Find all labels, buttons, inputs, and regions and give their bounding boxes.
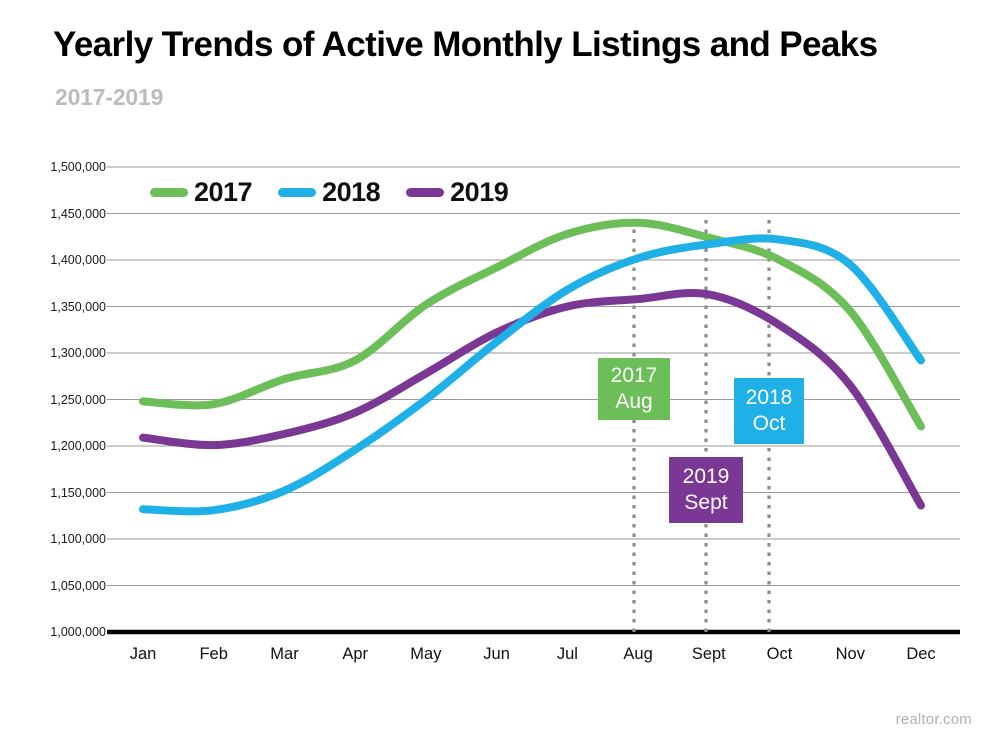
callout-peak-2018[interactable]: 2018Oct xyxy=(734,378,804,444)
chart-legend: 201720182019 xyxy=(150,172,508,212)
legend-label-2019: 2019 xyxy=(450,179,508,206)
chart-svg xyxy=(0,0,1000,750)
callout-month: Aug xyxy=(615,389,652,415)
series-line-2018 xyxy=(143,238,921,511)
callout-month: Sept xyxy=(684,490,727,516)
series-line-2017 xyxy=(143,223,921,427)
y-axis-tick-label: 1,000,000 xyxy=(18,625,106,639)
y-axis-tick-label: 1,400,000 xyxy=(18,253,106,267)
x-axis-tick-label-jan: Jan xyxy=(130,645,157,664)
legend-item-2017[interactable]: 2017 xyxy=(150,179,252,206)
callout-year: 2019 xyxy=(683,464,730,490)
x-axis-labels: JanFebMarAprMayJunJulAugSeptOctNovDec xyxy=(0,645,1000,679)
x-axis-tick-label-may: May xyxy=(410,645,441,664)
x-axis-tick-label-sept: Sept xyxy=(692,645,726,664)
chart-plot-area xyxy=(0,0,1000,750)
x-axis-tick-label-dec: Dec xyxy=(906,645,935,664)
x-axis-tick-label-oct: Oct xyxy=(767,645,793,664)
y-axis-tick-label: 1,050,000 xyxy=(18,579,106,593)
x-axis-tick-label-nov: Nov xyxy=(836,645,865,664)
callout-year: 2017 xyxy=(611,363,658,389)
callout-peak-2017[interactable]: 2017Aug xyxy=(598,358,670,420)
callout-month: Oct xyxy=(753,411,786,437)
legend-item-2018[interactable]: 2018 xyxy=(278,179,380,206)
x-axis-tick-label-aug: Aug xyxy=(623,645,652,664)
x-axis-tick-label-jul: Jul xyxy=(557,645,578,664)
x-axis-tick-label-feb: Feb xyxy=(199,645,227,664)
y-axis-tick-label: 1,450,000 xyxy=(18,207,106,221)
x-axis-tick-label-apr: Apr xyxy=(342,645,368,664)
y-axis-tick-label: 1,300,000 xyxy=(18,346,106,360)
callout-peak-2019[interactable]: 2019Sept xyxy=(669,457,743,523)
y-axis-tick-label: 1,200,000 xyxy=(18,439,106,453)
x-axis-tick-label-jun: Jun xyxy=(483,645,510,664)
chart-page: Yearly Trends of Active Monthly Listings… xyxy=(0,0,1000,750)
legend-item-2019[interactable]: 2019 xyxy=(406,179,508,206)
callout-year: 2018 xyxy=(746,385,793,411)
legend-label-2017: 2017 xyxy=(194,179,252,206)
legend-swatch-2018 xyxy=(278,188,316,197)
legend-label-2018: 2018 xyxy=(322,179,380,206)
y-axis-tick-label: 1,500,000 xyxy=(18,160,106,174)
y-axis-tick-label: 1,150,000 xyxy=(18,486,106,500)
x-axis-tick-label-mar: Mar xyxy=(270,645,298,664)
legend-swatch-2019 xyxy=(406,188,444,197)
legend-swatch-2017 xyxy=(150,188,188,197)
series-lines xyxy=(143,223,921,512)
y-axis-tick-label: 1,350,000 xyxy=(18,300,106,314)
y-axis-tick-label: 1,250,000 xyxy=(18,393,106,407)
y-axis-tick-label: 1,100,000 xyxy=(18,532,106,546)
y-axis-labels: 1,500,0001,450,0001,400,0001,350,0001,30… xyxy=(18,0,106,750)
watermark-realtor: realtor.com xyxy=(896,711,972,728)
